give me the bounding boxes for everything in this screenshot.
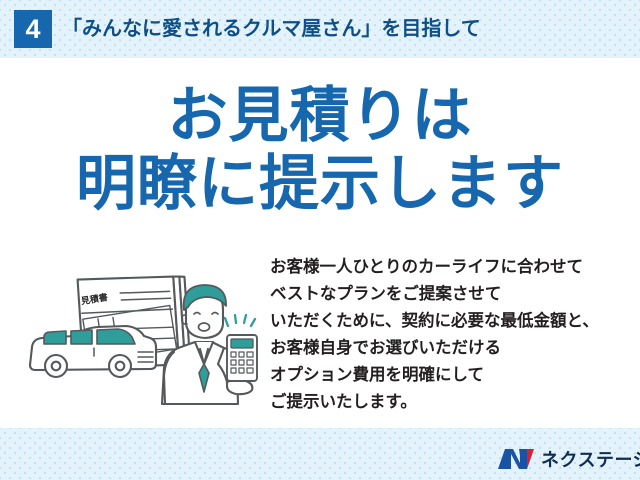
headline: お見積りは 明瞭に提示します: [0, 82, 640, 218]
body-copy-line: ご提示いたします。: [270, 389, 630, 416]
promo-banner: 4 「みんなに愛されるクルマ屋さん」を目指して お見積りは 明瞭に提示します お…: [0, 0, 640, 480]
van: [30, 326, 156, 377]
body-copy-line: オプション費用を明確にして: [270, 362, 630, 389]
headline-line-2: 明瞭に提示します: [0, 150, 640, 218]
body-copy: お客様一人ひとりのカーライフに合わせて ベストなプランをご提案させて いただくた…: [270, 254, 630, 416]
brand-logo: ネクステージ: [497, 446, 640, 472]
body-copy-line: ベストなプランをご提案させて: [270, 281, 630, 308]
body-copy-line: いただくために、契約に必要な最低金額と、: [270, 308, 630, 335]
body-copy-line: お客様自身でお選びいただける: [270, 335, 630, 362]
brand-name: ネクステージ: [541, 446, 640, 472]
step-number-badge: 4: [14, 10, 52, 48]
illustration: 見積書: [22, 252, 272, 407]
header-title: 「みんなに愛されるクルマ屋さん」を目指して: [62, 13, 481, 45]
content-card: お見積りは 明瞭に提示します お客様一人ひとりのカーライフに合わせて ベストなプ…: [0, 58, 640, 428]
calculator: [227, 335, 257, 381]
body-copy-line: お客様一人ひとりのカーライフに合わせて: [270, 254, 630, 281]
nexstage-n-icon: [497, 447, 535, 471]
sparkle-icon: [225, 315, 255, 326]
headline-line-1: お見積りは: [0, 82, 640, 150]
